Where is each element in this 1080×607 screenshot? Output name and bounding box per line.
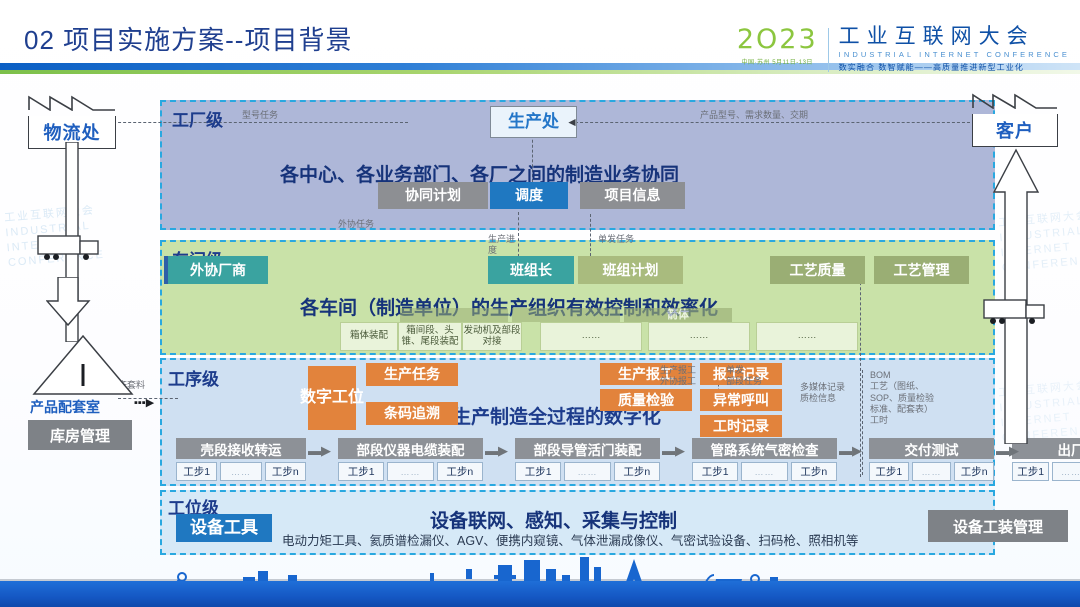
step-ellipsis: …… xyxy=(564,462,610,481)
annotation-product-info: 产品型号、需求数量、交期 xyxy=(700,110,808,121)
stage-arrow-5: ▬▶ xyxy=(996,444,1019,457)
stage-name: 壳段接收转运 xyxy=(176,438,306,459)
annotation-production-progress: 生产进度 xyxy=(488,234,516,257)
subbox-1[interactable]: 箱体装配 xyxy=(340,322,398,351)
chip-dispatch[interactable]: 调度 xyxy=(490,182,568,209)
connector-factory-to-logistics xyxy=(108,122,408,123)
factory-roof-icon xyxy=(28,94,116,111)
stage-arrow-4: ▬▶ xyxy=(839,444,862,457)
stage-steps: 工步1 …… 工步n xyxy=(869,462,994,481)
logo-year-block: 2O23 中国·苏州 5月11日-13日 xyxy=(737,26,818,66)
chip-outsourcing-vendor[interactable]: 外协厂商 xyxy=(168,256,268,284)
level-label-process: 工序级 xyxy=(168,365,219,390)
step-ellipsis: …… xyxy=(220,462,261,481)
chip-abnormal-call[interactable]: 异常呼叫 xyxy=(700,389,782,411)
chip-worktime-record[interactable]: 工时记录 xyxy=(700,415,782,437)
step-ellipsis: …… xyxy=(1052,462,1080,481)
actor-customer[interactable]: 客户 xyxy=(972,92,1058,147)
step-last[interactable]: 工步n xyxy=(791,462,837,481)
chip-digital-station[interactable]: 数字工位 xyxy=(308,366,356,430)
row-header-1 xyxy=(400,308,508,322)
annotation-single-task: 单发任务 xyxy=(598,234,634,245)
stage-steps: 工步1 …… 工步n xyxy=(1012,462,1080,481)
step-ellipsis: …… xyxy=(741,462,787,481)
logo-subtitle: 数实融合 数智赋能——高质量推进新型工业化 xyxy=(839,62,1070,73)
step-first[interactable]: 工步1 xyxy=(176,462,217,481)
chip-team-leader[interactable]: 班组长 xyxy=(488,256,574,284)
step-first[interactable]: 工步1 xyxy=(692,462,738,481)
step-last[interactable]: 工步n xyxy=(265,462,306,481)
subbox-6[interactable]: …… xyxy=(756,322,858,351)
logo-text-block: 工业互联网大会 INDUSTRIAL INTERNET CONFERENCE 数… xyxy=(839,26,1070,73)
left-flow-arrow xyxy=(46,277,98,327)
annotation-model-task: 型号任务 xyxy=(242,110,278,121)
process-stage-6[interactable]: 出厂 工步1 …… 工步n xyxy=(1012,438,1080,481)
logo-name-cn: 工业互联网大会 xyxy=(839,26,1070,48)
skyline-gradient-band xyxy=(0,581,1080,607)
actor-logistics[interactable]: 物流处 xyxy=(28,94,116,149)
step-last[interactable]: 工步n xyxy=(614,462,660,481)
actor-customer-label: 客户 xyxy=(972,114,1058,147)
stage-steps: 工步1 …… 工步n xyxy=(338,462,483,481)
right-flow-arrow xyxy=(992,144,1040,444)
position-device-list: 电动力矩工具、氦质谱检漏仪、AGV、便携内窥镜、气体泄漏成像仪、气密试验设备、扫… xyxy=(282,530,858,549)
chip-collab-plan[interactable]: 协同计划 xyxy=(378,182,488,209)
product-room-triangle-icon xyxy=(32,334,134,396)
process-stage-3[interactable]: 部段导管活门装配 工步1 …… 工步n xyxy=(515,438,660,481)
connector-bom-v xyxy=(862,370,863,475)
stage-arrow-3: ▬▶ xyxy=(662,444,685,457)
stage-arrow-2: ▬▶ xyxy=(485,444,508,457)
arrow-head-to-node: ◄ xyxy=(566,115,578,130)
level-title-position: 设备联网、感知、采集与控制 xyxy=(430,506,677,533)
diagram-canvas: 工业互联网大会 INDUSTRIAL INTERNET CONFERENCE 工… xyxy=(0,82,1080,562)
stage-steps: 工步1 …… 工步n xyxy=(692,462,837,481)
stage-name: 部段仪器电缆装配 xyxy=(338,438,483,459)
annotation-report-work: 生产报工 外协报工 xyxy=(660,365,696,388)
subbox-5[interactable]: …… xyxy=(648,322,750,351)
factory-roof-icon xyxy=(972,92,1058,109)
connector-customer-to-factory xyxy=(570,122,970,123)
logo-divider xyxy=(828,28,829,72)
chip-project-info[interactable]: 项目信息 xyxy=(580,182,685,209)
level-label-factory: 工厂级 xyxy=(172,106,223,131)
row-header-2 xyxy=(512,308,620,322)
step-first[interactable]: 工步1 xyxy=(515,462,561,481)
annotation-bom: BOM 工艺（图纸、 SOP、质量检验 标准、配套表） 工时 xyxy=(870,370,980,426)
process-stage-1[interactable]: 壳段接收转运 工步1 …… 工步n xyxy=(176,438,306,481)
chip-production-task[interactable]: 生产任务 xyxy=(366,363,458,386)
stage-steps: 工步1 …… 工步n xyxy=(515,462,660,481)
step-ellipsis: …… xyxy=(387,462,433,481)
process-stage-4[interactable]: 管路系统气密检查 工步1 …… 工步n xyxy=(692,438,837,481)
stage-name: 交付测试 xyxy=(869,438,994,459)
node-production-dept[interactable]: 生产处 xyxy=(490,106,577,138)
chip-accent-bar xyxy=(164,256,168,284)
process-stage-5[interactable]: 交付测试 工步1 …… 工步n xyxy=(869,438,994,481)
logo-year: 2O23 xyxy=(737,26,818,53)
stage-name: 部段导管活门装配 xyxy=(515,438,660,459)
annotation-outsourcing-task: 外协任务 xyxy=(338,219,374,230)
chip-process-quality[interactable]: 工艺质量 xyxy=(770,256,865,284)
actor-equipment-mgmt[interactable]: 设备工装管理 xyxy=(928,510,1068,542)
connector-single-task-v xyxy=(590,214,591,256)
row-header-3: 箭体 xyxy=(624,308,732,322)
logo-name-en: INDUSTRIAL INTERNET CONFERENCE xyxy=(839,50,1070,59)
chip-quality-inspection[interactable]: 质量检验 xyxy=(600,389,692,411)
stage-arrow-1: ▬▶ xyxy=(308,444,331,457)
stage-name: 管路系统气密检查 xyxy=(692,438,837,459)
conference-logo: 2O23 中国·苏州 5月11日-13日 工业互联网大会 INDUSTRIAL … xyxy=(737,26,1070,73)
step-last[interactable]: 工步n xyxy=(954,462,994,481)
chip-process-mgmt[interactable]: 工艺管理 xyxy=(874,256,969,284)
chip-team-plan[interactable]: 班组计划 xyxy=(578,256,683,284)
logo-date: 中国·苏州 5月11日-13日 xyxy=(742,57,813,66)
annotation-multimedia: 多媒体记录 质检信息 xyxy=(800,382,852,405)
step-first[interactable]: 工步1 xyxy=(869,462,909,481)
subbox-2[interactable]: 箱间段、头锥、尾段装配 xyxy=(398,322,462,351)
step-ellipsis: …… xyxy=(912,462,952,481)
stage-steps: 工步1 …… 工步n xyxy=(176,462,306,481)
process-stage-2[interactable]: 部段仪器电缆装配 工步1 …… 工步n xyxy=(338,438,483,481)
slide-root: 02 项目实施方案--项目背景 2O23 中国·苏州 5月11日-13日 工业互… xyxy=(0,0,1080,607)
actor-product-room-label: 产品配套室 xyxy=(30,397,100,417)
right-truck-icon xyxy=(982,298,1050,328)
annotation-single-section-task: 单发 部段任务 xyxy=(726,365,762,388)
chip-barcode-trace[interactable]: 条码追溯 xyxy=(366,402,458,425)
step-last[interactable]: 工步n xyxy=(437,462,483,481)
chip-equipment-tools[interactable]: 设备工具 xyxy=(176,514,272,542)
step-first[interactable]: 工步1 xyxy=(338,462,384,481)
left-truck-icon xyxy=(36,234,104,264)
page-title: 02 项目实施方案--项目背景 xyxy=(24,20,352,57)
connector-progress-v xyxy=(518,212,519,257)
subbox-4[interactable]: …… xyxy=(540,322,642,351)
step-first[interactable]: 工步1 xyxy=(1012,462,1049,481)
bottom-skyline-decoration xyxy=(0,555,1080,607)
subbox-3[interactable]: 发动机及部段对接 xyxy=(462,322,522,351)
actor-warehouse[interactable]: 库房管理 xyxy=(28,420,132,450)
warehouse-arrow: ▪▪▪▶ xyxy=(134,398,154,409)
